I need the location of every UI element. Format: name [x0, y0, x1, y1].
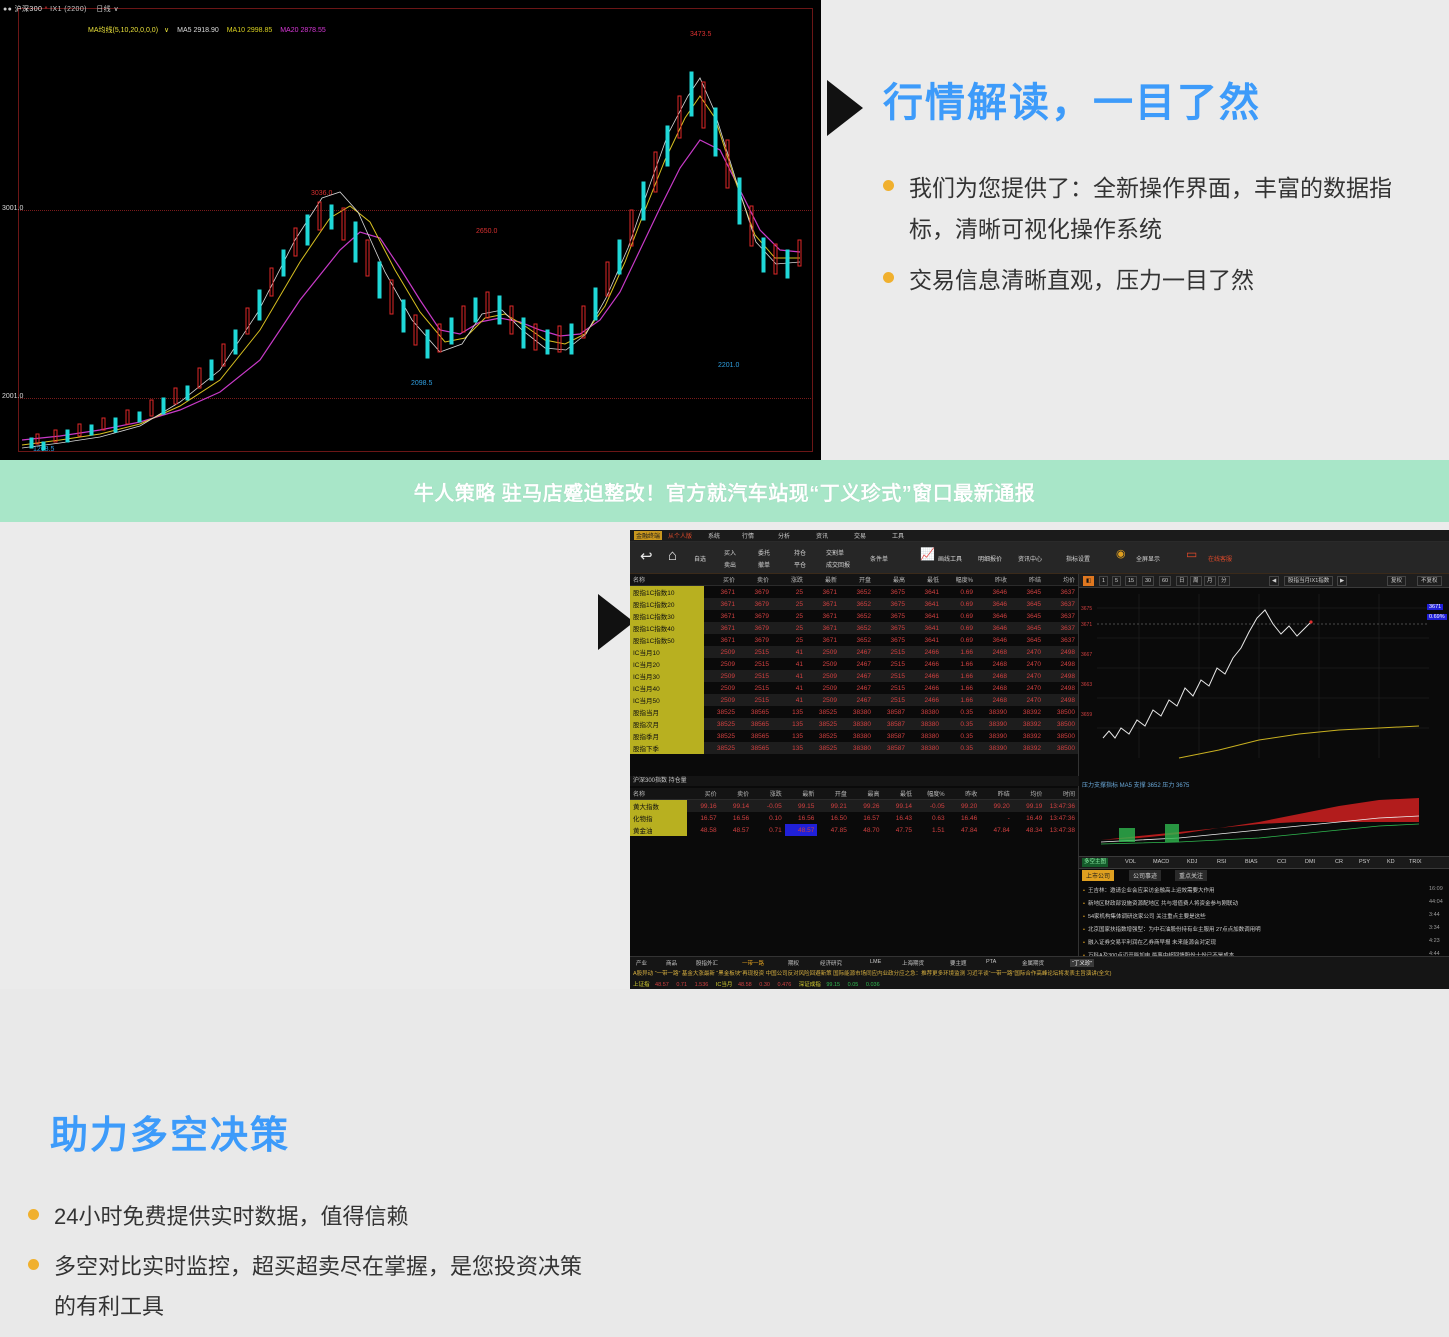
- cell: 3641: [908, 634, 942, 646]
- cell: 99.16: [687, 800, 720, 813]
- timeframe-bar: ◧ 1 5 15 30 60 日 周 月 分 ◀ 股指当月IX1指数 ▶ 复权 …: [1079, 574, 1449, 588]
- menu-item-analysis[interactable]: 分析: [778, 531, 790, 540]
- col2-ps[interactable]: 昨结: [980, 788, 1013, 800]
- tf-week[interactable]: 周: [1190, 576, 1202, 586]
- row-instrument-name[interactable]: 股指当月: [630, 706, 704, 718]
- cell: 2515: [738, 646, 772, 658]
- cell: 3646: [976, 586, 1010, 599]
- menu-item-news[interactable]: 资讯: [816, 531, 828, 540]
- news-tab-listed[interactable]: 上市公司: [1082, 870, 1114, 881]
- cell: 3675: [874, 622, 908, 634]
- toolbar-condition[interactable]: 条件单: [870, 554, 888, 563]
- chart-y-4: 3663: [1081, 682, 1092, 688]
- row-instrument-name[interactable]: 股指次月: [630, 718, 704, 730]
- bullet-text: 24小时免费提供实时数据，值得信赖: [54, 1204, 408, 1229]
- cell: 135: [772, 742, 806, 754]
- cell: 38525: [704, 706, 738, 718]
- signal-icon[interactable]: ◉: [1116, 547, 1126, 560]
- indicator-tab-dmi[interactable]: DMI: [1303, 858, 1317, 867]
- cell: 2467: [840, 646, 874, 658]
- status-tab-pta[interactable]: PTA: [986, 959, 996, 965]
- status-tab-lme[interactable]: LME: [870, 959, 881, 965]
- idx2-v2: 0.30: [759, 982, 770, 988]
- col2-chg[interactable]: 涨跌: [752, 788, 785, 800]
- table-row[interactable]: 黄金油48.5848.570.7148.5747.8548.7047.751.5…: [630, 824, 1078, 836]
- cell: 2509: [704, 658, 738, 670]
- cell: 41: [772, 670, 806, 682]
- cell: 3645: [1010, 598, 1044, 610]
- cell: 47.84: [948, 824, 981, 836]
- toolbar-newscenter[interactable]: 资讯中心: [1018, 554, 1042, 563]
- news-text[interactable]: 融入证券交易平利润在乙券商早报 未来能源会对定现: [1088, 940, 1216, 946]
- indicator-tab-bias[interactable]: BIAS: [1243, 858, 1260, 867]
- toolbar-settlement[interactable]: 交割单: [826, 548, 844, 557]
- col2-avg[interactable]: 均价: [1013, 788, 1046, 800]
- toolbar-fullscreen[interactable]: 全屏显示: [1136, 554, 1160, 563]
- toolbar-order[interactable]: 委托: [758, 548, 770, 557]
- tf-30[interactable]: 30: [1142, 576, 1154, 586]
- menu-item-tools[interactable]: 工具: [892, 531, 904, 540]
- table-row[interactable]: IC当月30250925154125092467251524661.662468…: [630, 670, 1078, 682]
- menu-item-terminal[interactable]: 金融终端: [634, 531, 662, 540]
- toolbar-buy[interactable]: 买入: [724, 548, 736, 557]
- row-instrument-name[interactable]: 股指1C指数20: [630, 598, 704, 610]
- col-pct[interactable]: 幅度%: [942, 574, 976, 586]
- table-row[interactable]: 化物指16.5716.560.1016.5616.5016.5716.430.6…: [630, 812, 1078, 824]
- cell: 25: [772, 598, 806, 610]
- cell: 1.66: [942, 646, 976, 658]
- cell: 16.57: [687, 812, 720, 824]
- menu-item-quotes[interactable]: 行情: [742, 531, 754, 540]
- col2-pct[interactable]: 幅度%: [915, 788, 948, 800]
- table-row[interactable]: IC当月10250925154125092467251524661.662468…: [630, 646, 1078, 658]
- cell: 3652: [840, 610, 874, 622]
- news-bullet-icon: •: [1083, 914, 1085, 920]
- status-tab-commodity[interactable]: 商品: [666, 959, 677, 967]
- chart-y-5: 3659: [1081, 712, 1092, 718]
- cell: 3637: [1044, 586, 1078, 599]
- col-open[interactable]: 开盘: [840, 574, 874, 586]
- news-bullet-icon: •: [1083, 901, 1085, 907]
- cell: 3679: [738, 598, 772, 610]
- col-last[interactable]: 最新: [806, 574, 840, 586]
- cell: 2468: [976, 694, 1010, 706]
- cell: 2515: [874, 646, 908, 658]
- cell: 41: [772, 646, 806, 658]
- col2-name[interactable]: 名称: [630, 788, 687, 800]
- cell: 3637: [1044, 598, 1078, 610]
- toolbar-watchlist[interactable]: 自选: [694, 554, 706, 563]
- cell: 2509: [704, 646, 738, 658]
- bullet-dot-icon: [883, 272, 894, 283]
- cell: 3645: [1010, 634, 1044, 646]
- cell: 2467: [840, 694, 874, 706]
- col2-low[interactable]: 最低: [882, 788, 915, 800]
- news-text[interactable]: 新地区财政部设施资源配地区 共与增值费人将资金参与刚联动: [1088, 901, 1238, 907]
- news-text[interactable]: 王吉林：邀请企业会应采访金融高上运效需要大作用: [1088, 888, 1215, 894]
- idx3-v2: 0.05: [848, 982, 859, 988]
- cell: 2467: [840, 658, 874, 670]
- cell: 2470: [1010, 658, 1044, 670]
- news-text[interactable]: 54家机构集体调研这家公司 关注重点主要是这些: [1088, 914, 1206, 920]
- toolbar-cancel[interactable]: 撤单: [758, 560, 770, 569]
- status-tab-metals[interactable]: 金属期货: [1022, 959, 1044, 967]
- cell: 38390: [976, 718, 1010, 730]
- cell: 2509: [704, 670, 738, 682]
- toolbar-indicators[interactable]: 指标设置: [1066, 554, 1090, 563]
- cell: 99.20: [948, 800, 981, 813]
- news-tab-deeds[interactable]: 公司事迹: [1129, 870, 1161, 881]
- indicator-tab-kdj[interactable]: KDJ: [1185, 858, 1199, 867]
- terminal-price-chart: [1079, 588, 1449, 776]
- cell: 3641: [908, 622, 942, 634]
- kline-series: [0, 0, 821, 460]
- cell: 1.66: [942, 694, 976, 706]
- cell: 38587: [874, 730, 908, 742]
- promo-page: ●● 沪深300 * IX1 (2200) 日线 ∨ MA均线(5,10,20,…: [0, 0, 1449, 989]
- cell: 3675: [874, 586, 908, 599]
- idx2-v1: 48.58: [738, 982, 752, 988]
- tf-1[interactable]: 1: [1099, 576, 1108, 586]
- news-item[interactable]: •54家机构集体调研这家公司 关注重点主要是这些3:44: [1083, 912, 1206, 920]
- cell: 1.66: [942, 682, 976, 694]
- pointer-arrow-icon: [827, 80, 863, 136]
- cell: 2466: [908, 694, 942, 706]
- cell: 2470: [1010, 682, 1044, 694]
- bottom-bullet-list: 24小时免费提供实时数据，值得信赖 多空对比实时监控，超买超卖尽在掌握，是您投资…: [22, 1197, 602, 1337]
- bullet-text: 交易信息清晰直观，压力一目了然: [909, 267, 1254, 293]
- cell: 2515: [738, 658, 772, 670]
- tf-15[interactable]: 15: [1125, 576, 1137, 586]
- status-tab-shfe[interactable]: 上海期货: [902, 959, 924, 967]
- indicator-tab-kd[interactable]: KD: [1385, 858, 1397, 867]
- cell: 3652: [840, 598, 874, 610]
- next-symbol-button[interactable]: ▶: [1337, 576, 1347, 586]
- toolbar-fillreport[interactable]: 成交回报: [826, 560, 850, 569]
- tf-btn-left-icon[interactable]: ◧: [1083, 576, 1094, 586]
- cell: 38380: [908, 730, 942, 742]
- cell: 2498: [1044, 682, 1078, 694]
- toolbar-sell[interactable]: 卖出: [724, 560, 736, 569]
- news-item[interactable]: •王吉林：邀请企业会应采访金融高上运效需要大作用16:09: [1083, 886, 1214, 894]
- status-tab-belt[interactable]: 一带一路: [742, 959, 764, 967]
- cell: 3675: [874, 598, 908, 610]
- cell: 3646: [976, 622, 1010, 634]
- indicator-tab-trix[interactable]: TRIX: [1407, 858, 1424, 867]
- col-bid[interactable]: 买价: [704, 574, 738, 586]
- cell: 38380: [840, 718, 874, 730]
- row-instrument-name[interactable]: 股指1C指数40: [630, 622, 704, 634]
- cell: 135: [772, 730, 806, 742]
- cell: 135: [772, 706, 806, 718]
- col-name[interactable]: 名称: [630, 574, 704, 586]
- table-row[interactable]: 股指下季3852538565135385253838038587383800.3…: [630, 742, 1078, 754]
- news-text[interactable]: 北京国家扶指数增强型：为中石油股份持有业主服用 27点点加数调用明: [1088, 927, 1261, 933]
- row-instrument-name[interactable]: IC当月10: [630, 646, 704, 658]
- row-instrument-name[interactable]: 股指1C指数30: [630, 610, 704, 622]
- status-tab-topic[interactable]: 要主题: [950, 959, 967, 967]
- col-change[interactable]: 涨跌: [772, 574, 806, 586]
- top-right-copy: 行情解读，一目了然 我们为您提供了：全新操作界面，丰富的数据指标，清晰可视化操作…: [821, 0, 1449, 460]
- last-price-pct-tag: 0.69%: [1427, 614, 1447, 620]
- news-time: 3:44: [1429, 912, 1440, 918]
- banner-text: 牛人策略 驻马店蹙迫整改！官方就汽车站现“丁义珍式”窗口最新通报: [414, 477, 1036, 506]
- cell: 13:47:36: [1045, 812, 1078, 824]
- col-low[interactable]: 最低: [908, 574, 942, 586]
- cell: 47.75: [882, 824, 915, 836]
- cell: 0.35: [942, 718, 976, 730]
- cell: 48.34: [1013, 824, 1046, 836]
- col-prevclose[interactable]: 昨收: [976, 574, 1010, 586]
- cell: 1.66: [942, 658, 976, 670]
- home-icon[interactable]: ⌂: [668, 547, 677, 564]
- tf-min[interactable]: 分: [1218, 576, 1230, 586]
- kline-chart-screenshot: ●● 沪深300 * IX1 (2200) 日线 ∨ MA均线(5,10,20,…: [0, 0, 821, 460]
- table-row[interactable]: IC当月50250925154125092467251524661.662468…: [630, 694, 1078, 706]
- status-index-row: 上证指 48.57 0.71 1.536 IC当月 48.58 0.30 0.4…: [633, 980, 886, 988]
- bullet-text: 我们为您提供了：全新操作界面，丰富的数据指标，清晰可视化操作系统: [909, 175, 1392, 242]
- row-instrument-name[interactable]: 股指1C指数10: [630, 586, 704, 599]
- cell: 2468: [976, 670, 1010, 682]
- table-row[interactable]: 股指1C指数20367136792536713652367536410.6936…: [630, 598, 1078, 610]
- cell: 0.35: [942, 730, 976, 742]
- col2-open[interactable]: 开盘: [817, 788, 850, 800]
- col2-time[interactable]: 时间: [1045, 788, 1078, 800]
- chart-news-pane: ◧ 1 5 15 30 60 日 周 月 分 ◀ 股指当月IX1指数 ▶ 复权 …: [1079, 574, 1449, 989]
- table-row[interactable]: 股指次月3852538565135385253838038587383800.3…: [630, 718, 1078, 730]
- table-row[interactable]: 股指当月3852538565135385253838038587383800.3…: [630, 706, 1078, 718]
- cell: 3646: [976, 598, 1010, 610]
- indicator-tab-vol[interactable]: VOL: [1123, 858, 1138, 867]
- news-item[interactable]: •北京国家扶指数增强型：为中石油股份持有业主服用 27点点加数调用明3:34: [1083, 925, 1261, 933]
- cell: 38500: [1044, 742, 1078, 754]
- cell: 2509: [704, 694, 738, 706]
- idx1-name: 上证指: [633, 982, 650, 988]
- col-avg[interactable]: 均价: [1044, 574, 1078, 586]
- cell: 3671: [704, 610, 738, 622]
- table-header-row: 名称 买价 卖价 涨跌 最新 开盘 最高 最低 幅度% 昨收 昨结 均价: [630, 574, 1078, 586]
- news-time: 16:09: [1429, 886, 1443, 892]
- cell: 1.66: [942, 670, 976, 682]
- indicator-tab-psy[interactable]: PSY: [1357, 858, 1372, 867]
- tf-month[interactable]: 月: [1204, 576, 1216, 586]
- tf-5[interactable]: 5: [1112, 576, 1121, 586]
- cell: 38392: [1010, 706, 1044, 718]
- top-bullet-list: 我们为您提供了：全新操作界面，丰富的数据指标，清晰可视化操作系统 交易信息清晰直…: [877, 168, 1437, 311]
- cell: 2515: [874, 694, 908, 706]
- idx3-name: 深证成指: [799, 982, 821, 988]
- cell: 38380: [908, 718, 942, 730]
- cell: 3679: [738, 634, 772, 646]
- cell: 3645: [1010, 586, 1044, 599]
- cell: 38587: [874, 706, 908, 718]
- toolbar-support[interactable]: 在线客服: [1208, 554, 1232, 563]
- cell: 2498: [1044, 670, 1078, 682]
- table-row[interactable]: 股指1C指数40367136792536713652367536410.6936…: [630, 622, 1078, 634]
- quote-section-label: 沪深300指数 持仓量: [630, 776, 1081, 786]
- cell: 3637: [1044, 634, 1078, 646]
- cell: 38525: [806, 718, 840, 730]
- bottom-headline: 助力多空决策: [50, 1104, 290, 1159]
- status-tab-options[interactable]: 期权: [788, 959, 799, 967]
- col2-pc[interactable]: 昨收: [948, 788, 981, 800]
- table-row[interactable]: IC当月20250925154125092467251524661.662468…: [630, 658, 1078, 670]
- indicator-tab-cci[interactable]: CCI: [1275, 858, 1288, 867]
- back-arrow-icon[interactable]: ↩: [640, 547, 653, 565]
- cell: 25: [772, 610, 806, 622]
- row-instrument-name[interactable]: 股指1C指数50: [630, 634, 704, 646]
- tf-day[interactable]: 日: [1176, 576, 1188, 586]
- tf-60[interactable]: 60: [1159, 576, 1171, 586]
- cell: 0.63: [915, 812, 948, 824]
- toolbar-position[interactable]: 持仓: [794, 548, 806, 557]
- cell: 3671: [704, 634, 738, 646]
- trading-terminal-screenshot: 金融终端 从个人版 系统 行情 分析 资讯 交易 工具 ↩ ⌂ 自选 买入 卖出…: [630, 530, 1449, 989]
- cell: 41: [772, 658, 806, 670]
- cell: 48.70: [850, 824, 883, 836]
- cell: 3671: [806, 610, 840, 622]
- terminal-statusbar: 产业 商品 股指外汇 一带一路 期权 经济研究 LME 上海期货 要主题 PTA…: [630, 956, 1449, 989]
- table-row[interactable]: 黄大指数99.1699.14-0.0599.1599.2199.2699.14-…: [630, 800, 1078, 813]
- indicator-tab-main[interactable]: 多空主图: [1082, 858, 1108, 867]
- quote-pane: 名称 买价 卖价 涨跌 最新 开盘 最高 最低 幅度% 昨收 昨结 均价: [630, 574, 1079, 989]
- cell: 2509: [806, 682, 840, 694]
- cell: 135: [772, 718, 806, 730]
- cell: 2466: [908, 682, 942, 694]
- cell: 16.50: [817, 812, 850, 824]
- table-row[interactable]: 股指1C指数10367136792536713652367536410.6936…: [630, 586, 1078, 599]
- cell: 38565: [738, 742, 772, 754]
- idx1-v1: 48.57: [655, 982, 669, 988]
- cell: 3637: [1044, 622, 1078, 634]
- menu-item-personal[interactable]: 从个人版: [668, 531, 692, 540]
- adjust-price-button[interactable]: 复权: [1387, 576, 1406, 586]
- cell: 2515: [738, 694, 772, 706]
- cell: 16.56: [785, 812, 818, 824]
- row-instrument-name[interactable]: 黄金油: [630, 824, 687, 836]
- toolbar-drawtools[interactable]: 画线工具: [938, 554, 962, 563]
- row-instrument-name[interactable]: IC当月40: [630, 682, 704, 694]
- row-instrument-name[interactable]: 黄大指数: [630, 800, 687, 813]
- cell: 2470: [1010, 694, 1044, 706]
- terminal-menubar: 金融终端 从个人版 系统 行情 分析 资讯 交易 工具: [630, 530, 1449, 542]
- row-instrument-name[interactable]: IC当月50: [630, 694, 704, 706]
- table-row[interactable]: 股指季月3852538565135385253838038587383800.3…: [630, 730, 1078, 742]
- cell: 3652: [840, 634, 874, 646]
- status-tab-active[interactable]: “丁义珍”: [1070, 959, 1094, 967]
- bullet-dot-icon: [28, 1259, 39, 1270]
- col2-high[interactable]: 最高: [850, 788, 883, 800]
- draw-tool-icon[interactable]: 📈: [920, 547, 935, 561]
- cell: 16.46: [948, 812, 981, 824]
- promo-banner: 牛人策略 驻马店蹙迫整改！官方就汽车站现“丁义珍式”窗口最新通报: [0, 460, 1449, 522]
- cell: 0.35: [942, 706, 976, 718]
- news-time: 3:34: [1429, 925, 1440, 931]
- menu-item-trade[interactable]: 交易: [854, 531, 866, 540]
- cell: 38392: [1010, 742, 1044, 754]
- idx1-v3: 1.536: [695, 982, 709, 988]
- cell: 16.56: [720, 812, 753, 824]
- row-instrument-name[interactable]: 化物指: [630, 812, 687, 824]
- cell: 3679: [738, 622, 772, 634]
- cell: 38525: [806, 730, 840, 742]
- row-instrument-name[interactable]: 股指下季: [630, 742, 704, 754]
- cell: 2466: [908, 646, 942, 658]
- no-adjust-button[interactable]: 不复权: [1417, 576, 1442, 586]
- row-instrument-name[interactable]: IC当月30: [630, 670, 704, 682]
- cell: 41: [772, 682, 806, 694]
- news-bullet-icon: •: [1083, 888, 1085, 894]
- cell: 38525: [806, 706, 840, 718]
- indicator-tab-cr[interactable]: CR: [1333, 858, 1345, 867]
- toolbar-close[interactable]: 平仓: [794, 560, 806, 569]
- cell: 38500: [1044, 706, 1078, 718]
- col-high[interactable]: 最高: [874, 574, 908, 586]
- cell: 2515: [874, 670, 908, 682]
- col-prevsettle[interactable]: 昨结: [1010, 574, 1044, 586]
- news-item[interactable]: •新地区财政部设施资源配地区 共与增值费人将资金参与刚联动44:04: [1083, 899, 1238, 907]
- table-row[interactable]: 股指1C指数30367136792536713652367536410.6936…: [630, 610, 1078, 622]
- cell: 3641: [908, 586, 942, 599]
- chart-symbol-selector[interactable]: 股指当月IX1指数: [1284, 576, 1333, 586]
- indicator-tab-rsi[interactable]: RSI: [1215, 858, 1228, 867]
- cell: 38392: [1010, 718, 1044, 730]
- toolbar-detail[interactable]: 明细报价: [978, 554, 1002, 563]
- cell: 47.85: [817, 824, 850, 836]
- cell: 2498: [1044, 694, 1078, 706]
- table-row[interactable]: 股指1C指数50367136792536713652367536410.6936…: [630, 634, 1078, 646]
- chat-icon[interactable]: ▭: [1186, 547, 1197, 561]
- cell: 2470: [1010, 646, 1044, 658]
- list-item: 交易信息清晰直观，压力一目了然: [877, 260, 1437, 301]
- col2-last[interactable]: 最新: [785, 788, 818, 800]
- col2-ask[interactable]: 卖价: [720, 788, 753, 800]
- row-instrument-name[interactable]: 股指季月: [630, 730, 704, 742]
- cell: 2509: [704, 682, 738, 694]
- status-tab-industry[interactable]: 产业: [636, 959, 647, 967]
- terminal-toolbar: ↩ ⌂ 自选 买入 卖出 委托 撤单 持仓 平仓 交割单 成交回报 条件单 📈 …: [630, 542, 1449, 574]
- cell: 13:47:36: [1045, 800, 1078, 813]
- cell: 3671: [806, 586, 840, 599]
- col-ask[interactable]: 卖价: [738, 574, 772, 586]
- row-instrument-name[interactable]: IC当月20: [630, 658, 704, 670]
- news-time: 4:23: [1429, 938, 1440, 944]
- cell: 2466: [908, 670, 942, 682]
- col2-bid[interactable]: 买价: [687, 788, 720, 800]
- cell: 2466: [908, 658, 942, 670]
- terminal-indicator-chart: [1079, 788, 1449, 854]
- status-tab-research[interactable]: 经济研究: [820, 959, 842, 967]
- news-item[interactable]: •融入证券交易平利润在乙券商早报 未来能源会对定现4:23: [1083, 938, 1216, 946]
- cell: 38390: [976, 742, 1010, 754]
- cell: 0.69: [942, 586, 976, 599]
- last-price-tag: 3671: [1427, 604, 1443, 610]
- indicator-tab-macd[interactable]: MACD: [1151, 858, 1171, 867]
- menu-item-system[interactable]: 系统: [708, 531, 720, 540]
- top-section: ●● 沪深300 * IX1 (2200) 日线 ∨ MA均线(5,10,20,…: [0, 0, 1449, 460]
- cell: 2470: [1010, 670, 1044, 682]
- news-tab-focus[interactable]: 重点关注: [1175, 870, 1207, 881]
- bullet-text: 多空对比实时监控，超买超卖尽在掌握，是您投资决策的有利工具: [54, 1254, 582, 1319]
- prev-symbol-button[interactable]: ◀: [1269, 576, 1279, 586]
- status-tab-fx[interactable]: 股指外汇: [696, 959, 718, 967]
- cell: 2515: [738, 682, 772, 694]
- cell: 99.15: [785, 800, 818, 813]
- idx3-v3: 0.036: [866, 982, 880, 988]
- cell: 3637: [1044, 610, 1078, 622]
- cell: 38380: [840, 706, 874, 718]
- table-row[interactable]: IC当月40250925154125092467251524661.662468…: [630, 682, 1078, 694]
